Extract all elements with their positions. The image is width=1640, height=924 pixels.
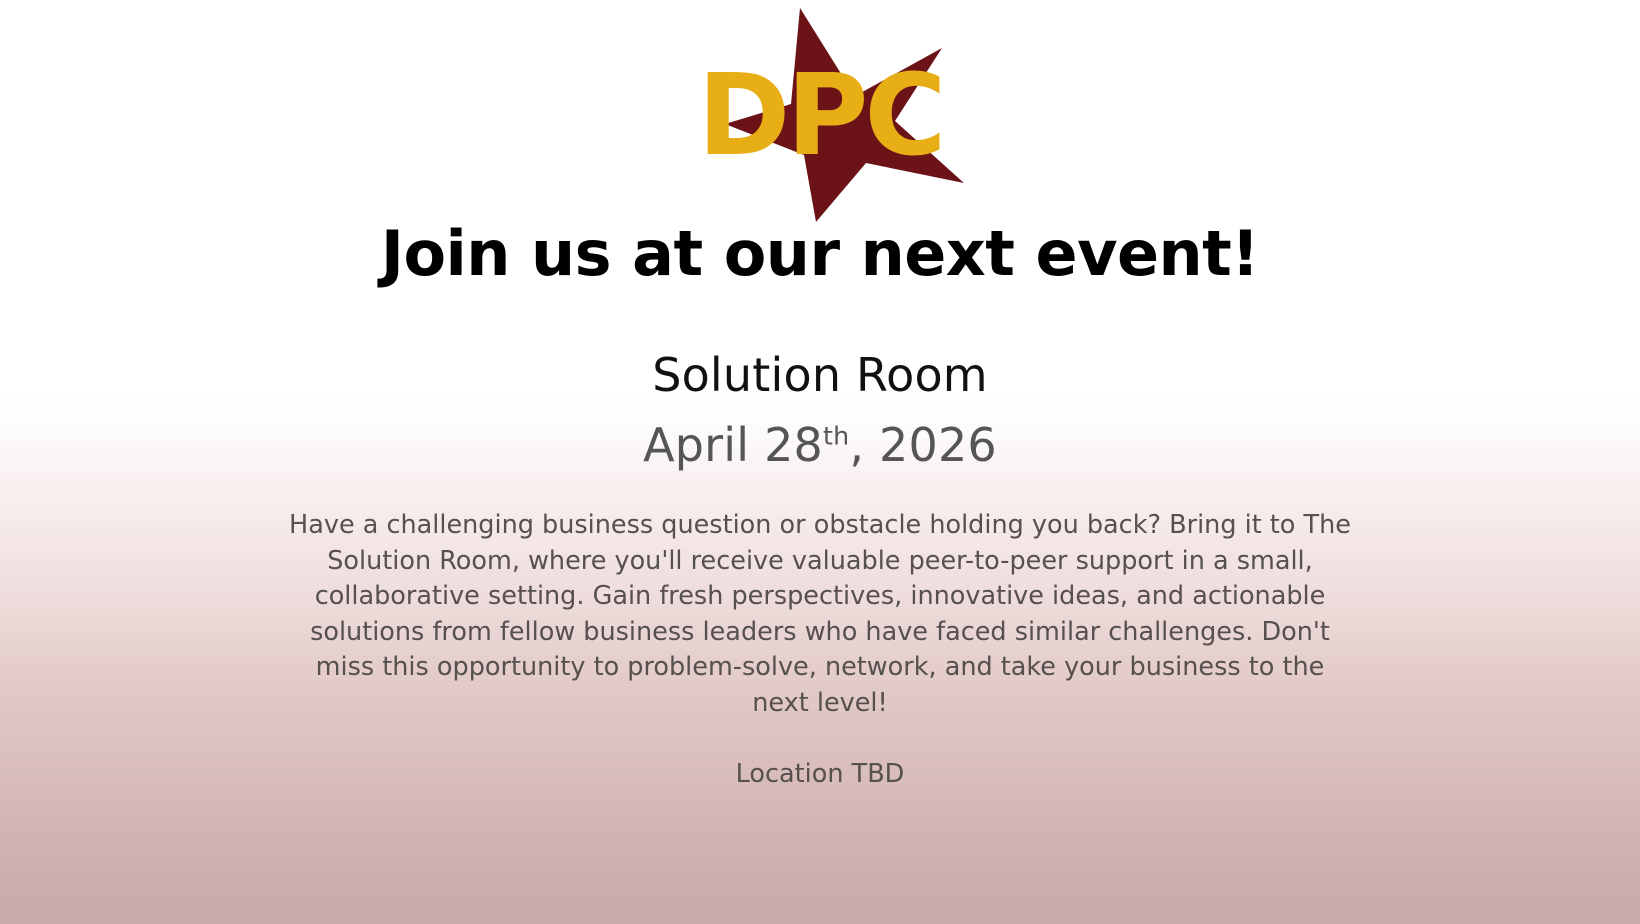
event-name: Solution Room [0,340,1640,410]
dpc-star-logo-svg: DPC [670,0,970,228]
dpc-star-logo: DPC [670,0,970,228]
event-date-ordinal-suffix: th [823,422,849,451]
event-details: Solution Room April 28th, 2026 [0,340,1640,480]
event-location: Location TBD [0,757,1640,793]
event-date: April 28th, 2026 [0,410,1640,480]
event-announcement-page: DPC Join us at our next event! Solution … [0,0,1640,924]
event-date-monthday: April 28 [643,418,823,472]
dpc-wordmark: DPC [697,51,942,181]
event-description: Have a challenging business question or … [289,508,1351,722]
event-date-year: , 2026 [849,418,997,472]
page-title: Join us at our next event! [0,208,1640,300]
